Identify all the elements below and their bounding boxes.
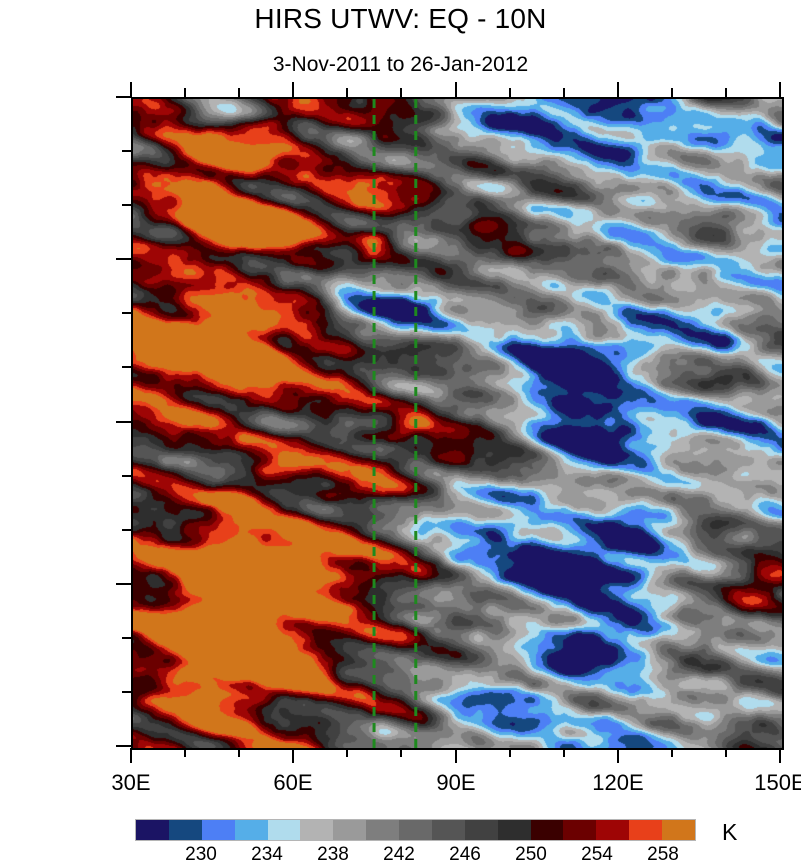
x-tick-minor [563, 748, 565, 757]
x-tick-minor [509, 748, 511, 757]
colorbar-cell [268, 820, 301, 840]
x-tick-minor-top [346, 88, 348, 97]
x-tick-label: 60E [233, 772, 353, 794]
colorbar-units-label: K [722, 821, 737, 844]
x-tick-minor [184, 748, 186, 757]
x-tick-minor [400, 748, 402, 757]
hovmoller-figure: HIRS UTWV: EQ - 10N 3-Nov-2011 to 26-Jan… [0, 0, 801, 863]
x-tick-minor [238, 748, 240, 757]
x-tick-minor-top [509, 88, 511, 97]
x-tick-minor-top [238, 88, 240, 97]
x-tick-minor-top [563, 88, 565, 97]
x-tick-minor [725, 748, 727, 757]
x-tick-major [779, 748, 781, 763]
colorbar-cell [531, 820, 564, 840]
x-tick-major [455, 748, 457, 763]
x-tick-major [617, 748, 619, 763]
colorbar-cell [662, 820, 695, 840]
x-tick-label: 30E [71, 772, 191, 794]
x-tick-label: 120E [558, 772, 678, 794]
x-tick-major-top [617, 82, 619, 97]
colorbar-tick-label: 258 [628, 845, 698, 864]
colorbar-cell [169, 820, 202, 840]
colorbar-cell [202, 820, 235, 840]
colorbar-cell [498, 820, 531, 840]
x-tick-major-top [779, 82, 781, 97]
x-tick-label: 150E [720, 772, 801, 794]
x-tick-minor-top [400, 88, 402, 97]
x-tick-label: 90E [396, 772, 516, 794]
colorbar-cell [399, 820, 432, 840]
colorbar-tick-label: 254 [562, 845, 632, 864]
x-tick-major [130, 748, 132, 763]
colorbar-cell [596, 820, 629, 840]
colorbar-tick-label: 242 [364, 845, 434, 864]
colorbar-tick-label: 230 [166, 845, 236, 864]
x-axis: 30E60E90E120E150E [0, 0, 801, 863]
x-tick-major-top [130, 82, 132, 97]
colorbar-strip [135, 819, 696, 841]
colorbar-cell [333, 820, 366, 840]
colorbar-tick-label: 250 [496, 845, 566, 864]
colorbar-cell [300, 820, 333, 840]
x-tick-minor-top [671, 88, 673, 97]
x-tick-minor [671, 748, 673, 757]
colorbar[interactable]: 230234238242246250254258 [135, 819, 696, 841]
x-tick-major-top [292, 82, 294, 97]
colorbar-cell [629, 820, 662, 840]
colorbar-tick-label: 238 [298, 845, 368, 864]
colorbar-cell [366, 820, 399, 840]
x-tick-minor-top [725, 88, 727, 97]
colorbar-tick-label: 234 [232, 845, 302, 864]
colorbar-cell [235, 820, 268, 840]
colorbar-cell [136, 820, 169, 840]
x-tick-minor [346, 748, 348, 757]
colorbar-cell [432, 820, 465, 840]
colorbar-cell [465, 820, 498, 840]
x-tick-minor-top [184, 88, 186, 97]
x-tick-major-top [455, 82, 457, 97]
x-tick-major [292, 748, 294, 763]
colorbar-cell [563, 820, 596, 840]
colorbar-tick-label: 246 [430, 845, 500, 864]
